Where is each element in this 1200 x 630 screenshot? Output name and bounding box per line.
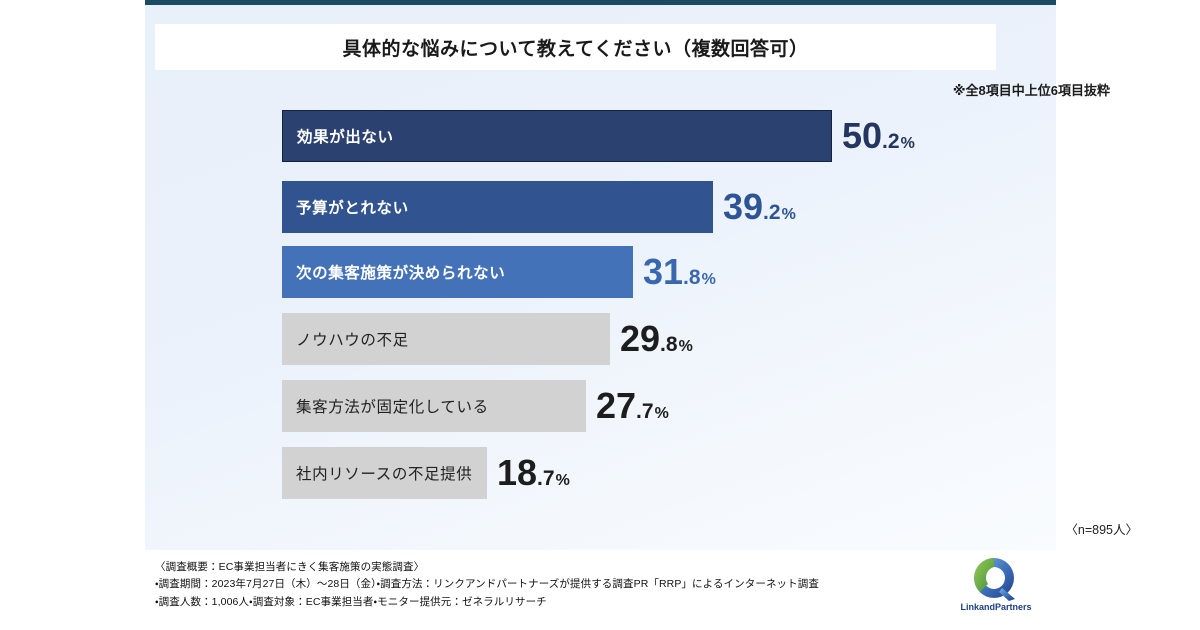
bar: 予算がとれない	[282, 181, 713, 233]
slide-canvas: 具体的な悩みについて教えてください（複数回答可） ※全8項目中上位6項目抜粋 効…	[0, 0, 1200, 630]
bar-value-percent-sign: %	[556, 473, 570, 489]
bar-value-integer: 31	[643, 254, 683, 290]
footer-line: ・調査人数：1,006人・調査対象：EC事業担当者・モニター提供元：ゼネラルリサ…	[155, 594, 819, 611]
link-and-partners-logo-icon	[968, 554, 1022, 604]
bar-label: 予算がとれない	[282, 196, 409, 218]
bar: ノウハウの不足	[282, 313, 610, 365]
bar-label: 次の集客施策が決められない	[282, 261, 505, 283]
bar-value: 39.2%	[723, 189, 796, 225]
bar: 次の集客施策が決められない	[282, 246, 633, 298]
bar-row: ノウハウの不足29.8%	[282, 313, 693, 365]
bar-label: 社内リソースの不足提供	[282, 462, 472, 484]
bar-value-percent-sign: %	[679, 339, 693, 355]
bar-value-percent-sign: %	[782, 207, 796, 223]
bar-value-decimal: .2	[763, 202, 781, 223]
logo: LinkandPartners	[946, 552, 1046, 622]
bar-value-integer: 18	[497, 455, 537, 491]
bar-row: 集客方法が固定化している27.7%	[282, 380, 669, 432]
bar-row: 社内リソースの不足提供18.7%	[282, 447, 570, 499]
bar: 社内リソースの不足提供	[282, 447, 487, 499]
bar-value: 31.8%	[643, 254, 716, 290]
bar-value-percent-sign: %	[655, 406, 669, 422]
bar: 効果が出ない	[282, 110, 832, 162]
bar: 集客方法が固定化している	[282, 380, 586, 432]
bar-value-percent-sign: %	[901, 136, 915, 152]
bar-value-decimal: .8	[683, 267, 701, 288]
bar-label: 集客方法が固定化している	[282, 395, 489, 417]
bar-value: 27.7%	[596, 388, 669, 424]
bar-value-integer: 39	[723, 189, 763, 225]
bar-label: ノウハウの不足	[282, 328, 409, 350]
bar-value-integer: 50	[842, 118, 882, 154]
bar-value-percent-sign: %	[702, 272, 716, 288]
footer-text-block: 〈調査概要：EC事業担当者にきく集客施策の実態調査〉・調査期間：2023年7月2…	[155, 559, 819, 611]
sample-size-note: 〈n=895人〉	[1065, 519, 1138, 538]
bar-value-decimal: .7	[537, 468, 555, 489]
bar-row: 効果が出ない50.2%	[282, 110, 915, 162]
bar-row: 次の集客施策が決められない31.8%	[282, 246, 716, 298]
bar-value-decimal: .2	[882, 131, 900, 152]
bar-value: 50.2%	[842, 118, 915, 154]
bar-value: 29.8%	[620, 321, 693, 357]
bar-value-decimal: .7	[636, 401, 654, 422]
bar-label: 効果が出ない	[283, 125, 394, 147]
bar-value-integer: 29	[620, 321, 660, 357]
footer: 〈調査概要：EC事業担当者にきく集客施策の実態調査〉・調査期間：2023年7月2…	[145, 550, 1056, 630]
footer-line: ・調査期間：2023年7月27日（木）〜28日（金）・調査方法：リンクアンドパー…	[155, 576, 819, 593]
footer-line: 〈調査概要：EC事業担当者にきく集客施策の実態調査〉	[155, 559, 819, 576]
bar-row: 予算がとれない39.2%	[282, 181, 796, 233]
bar-value-decimal: .8	[660, 334, 678, 355]
logo-text: LinkandPartners	[946, 602, 1046, 612]
bar-value: 18.7%	[497, 455, 570, 491]
bar-chart: 効果が出ない50.2%予算がとれない39.2%次の集客施策が決められない31.8…	[0, 0, 1200, 630]
bar-value-integer: 27	[596, 388, 636, 424]
